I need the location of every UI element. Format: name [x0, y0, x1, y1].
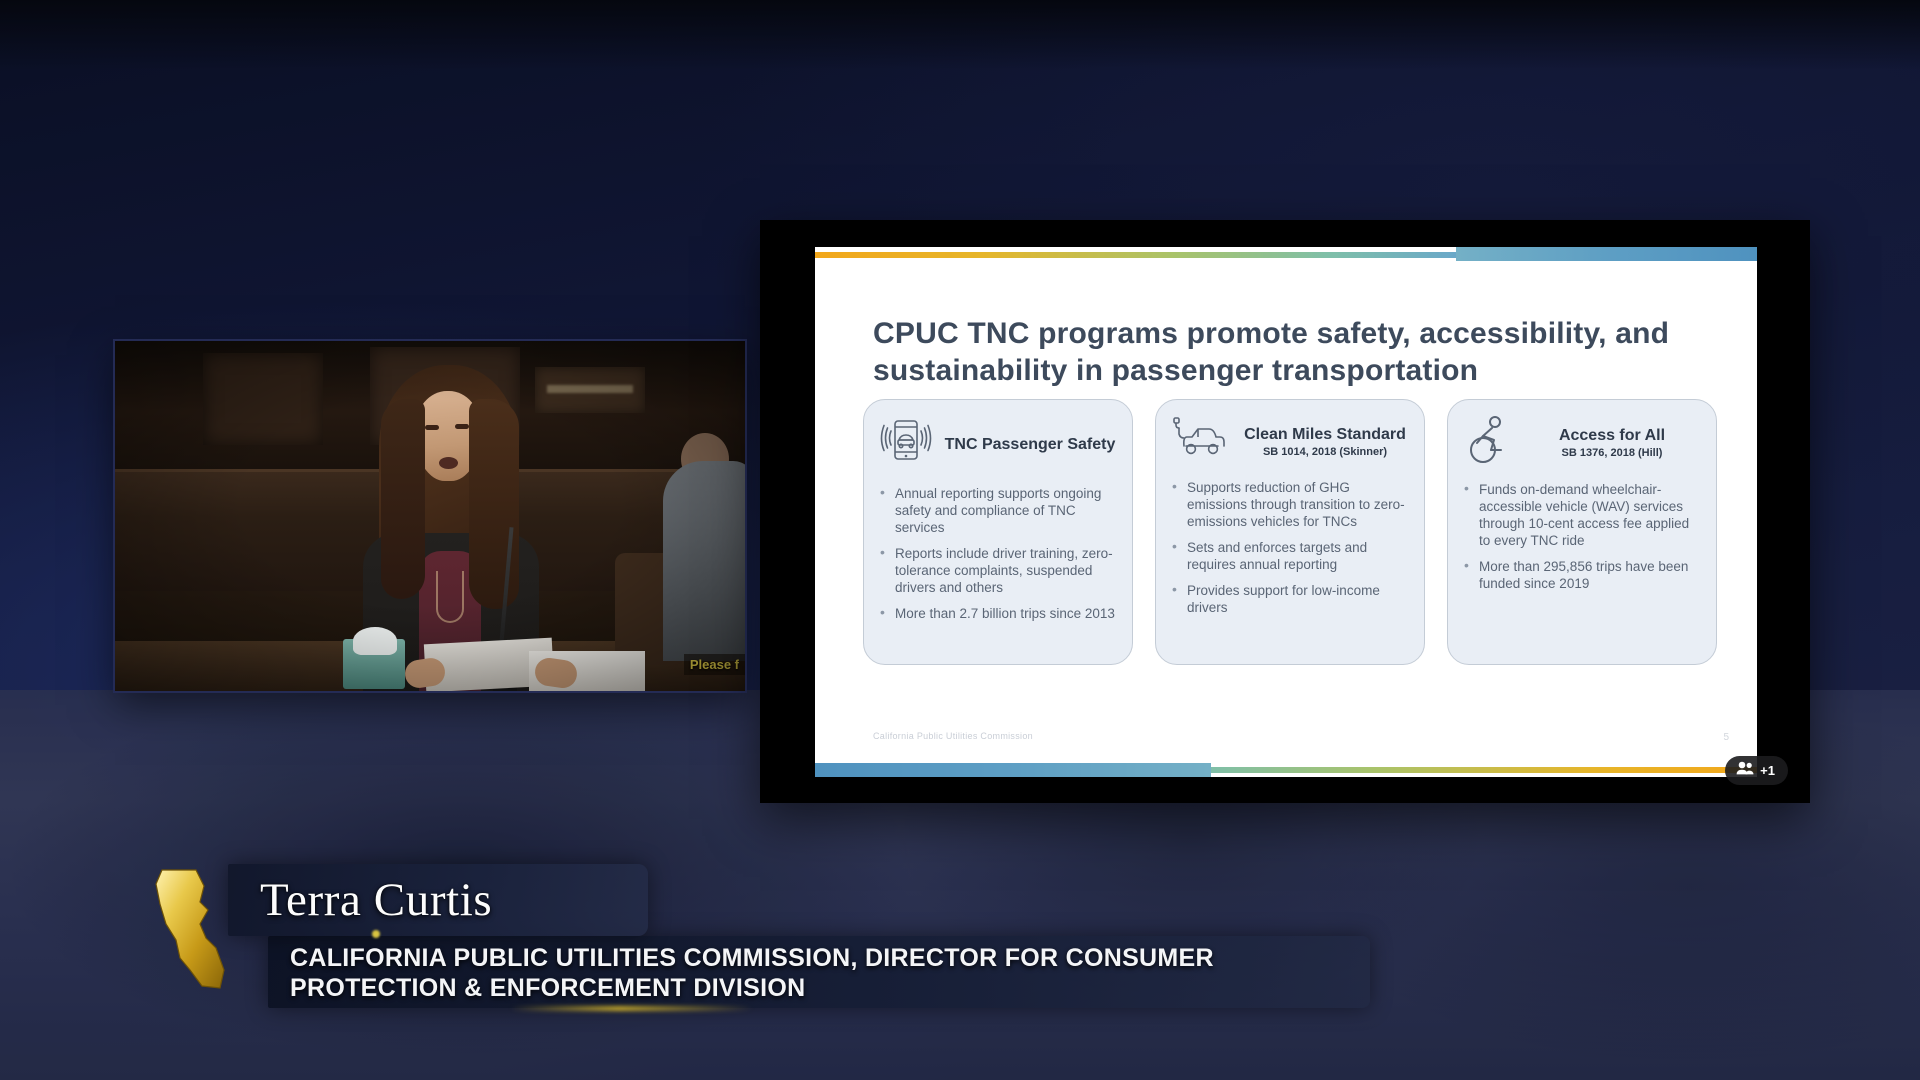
speaker-eye-right: [455, 424, 469, 429]
card-title-group: Clean Miles Standard SB 1014, 2018 (Skin…: [1240, 425, 1410, 458]
people-icon: [1736, 761, 1754, 780]
slide-page-number: 5: [1723, 732, 1729, 743]
card-header: TNC Passenger Safety: [878, 414, 1118, 475]
card-bullet-list: Funds on-demand wheelchair-accessible ve…: [1462, 481, 1702, 592]
card-bullet: Sets and enforces targets and requires a…: [1170, 539, 1410, 573]
card-title: Access for All: [1559, 427, 1665, 444]
slide-bottom-accent-bar: [815, 761, 1757, 777]
speaker-name: Terra Curtis: [260, 874, 492, 926]
screen-share-panel[interactable]: CPUC TNC programs promote safety, access…: [760, 220, 1810, 803]
card-bullet: Supports reduction of GHG emissions thro…: [1170, 479, 1410, 530]
card-bullet: Annual reporting supports ongoing safety…: [878, 485, 1118, 536]
california-state-outline-icon: [150, 866, 246, 998]
card-bullet: Funds on-demand wheelchair-accessible ve…: [1462, 481, 1702, 549]
slide-top-accent-thick: [1456, 247, 1757, 261]
card-title-group: Access for All SB 1376, 2018 (Hill): [1522, 426, 1702, 459]
card-header: Clean Miles Standard SB 1014, 2018 (Skin…: [1170, 414, 1410, 469]
slide-bottom-accent-thin: [1211, 767, 1757, 773]
slide-card-clean-miles-standard: Clean Miles Standard SB 1014, 2018 (Skin…: [1155, 399, 1425, 665]
slide-bottom-accent-thick: [815, 763, 1211, 777]
banner-accent-dot: [372, 930, 380, 938]
slide-card-access-for-all: Access for All SB 1376, 2018 (Hill) Fund…: [1447, 399, 1717, 665]
participant-count: +1: [1760, 763, 1775, 778]
card-header: Access for All SB 1376, 2018 (Hill): [1462, 414, 1702, 471]
card-subtitle: SB 1376, 2018 (Hill): [1522, 447, 1702, 459]
slide-top-accent-thin: [815, 252, 1456, 258]
smartphone-rideshare-icon: [878, 414, 934, 475]
speaker-title: CALIFORNIA PUBLIC UTILITIES COMMISSION, …: [290, 944, 1350, 1003]
participant-count-badge[interactable]: +1: [1725, 756, 1788, 785]
speaker-video-feed[interactable]: Please f: [115, 341, 745, 691]
wall-plaque-text: [547, 385, 633, 393]
card-title-group: TNC Passenger Safety: [942, 435, 1118, 454]
card-bullet: More than 2.7 billion trips since 2013: [878, 605, 1118, 622]
card-subtitle: SB 1014, 2018 (Skinner): [1240, 446, 1410, 458]
seated-person-body: [663, 461, 745, 661]
wheelchair-accessibility-icon: [1462, 414, 1514, 471]
speaker-necklace: [436, 571, 464, 623]
video-caption-overlay: Please f: [684, 654, 745, 675]
wood-panel-left: [203, 353, 323, 445]
card-bullet: Provides support for low-income drivers: [1170, 582, 1410, 616]
speaker-eye-left: [425, 425, 439, 430]
tissue: [353, 627, 397, 655]
electric-car-icon: [1170, 414, 1232, 469]
card-bullet: More than 295,856 trips have been funded…: [1462, 558, 1702, 592]
speaker-hair-right-strand: [469, 399, 519, 609]
backdrop-top-shadow: [0, 0, 1920, 70]
slide-top-accent-bar: [815, 247, 1757, 263]
slide-card-row: TNC Passenger Safety Annual reporting su…: [863, 399, 1717, 665]
card-title: TNC Passenger Safety: [945, 436, 1116, 453]
lower-third-name-banner: Terra Curtis CALIFORNIA PUBLIC UTILITIES…: [150, 858, 1570, 1008]
slide-title: CPUC TNC programs promote safety, access…: [873, 315, 1703, 389]
presentation-slide[interactable]: CPUC TNC programs promote safety, access…: [815, 247, 1757, 777]
video-room-background: [115, 341, 745, 691]
card-bullet-list: Supports reduction of GHG emissions thro…: [1170, 479, 1410, 616]
slide-footer-organization: California Public Utilities Commission: [873, 731, 1033, 741]
speaker-mouth: [439, 457, 458, 469]
slide-card-tnc-passenger-safety: TNC Passenger Safety Annual reporting su…: [863, 399, 1133, 665]
speaker-hair-left-strand: [381, 399, 425, 599]
card-bullet-list: Annual reporting supports ongoing safety…: [878, 485, 1118, 622]
card-title: Clean Miles Standard: [1244, 426, 1406, 443]
card-bullet: Reports include driver training, zero-to…: [878, 545, 1118, 596]
